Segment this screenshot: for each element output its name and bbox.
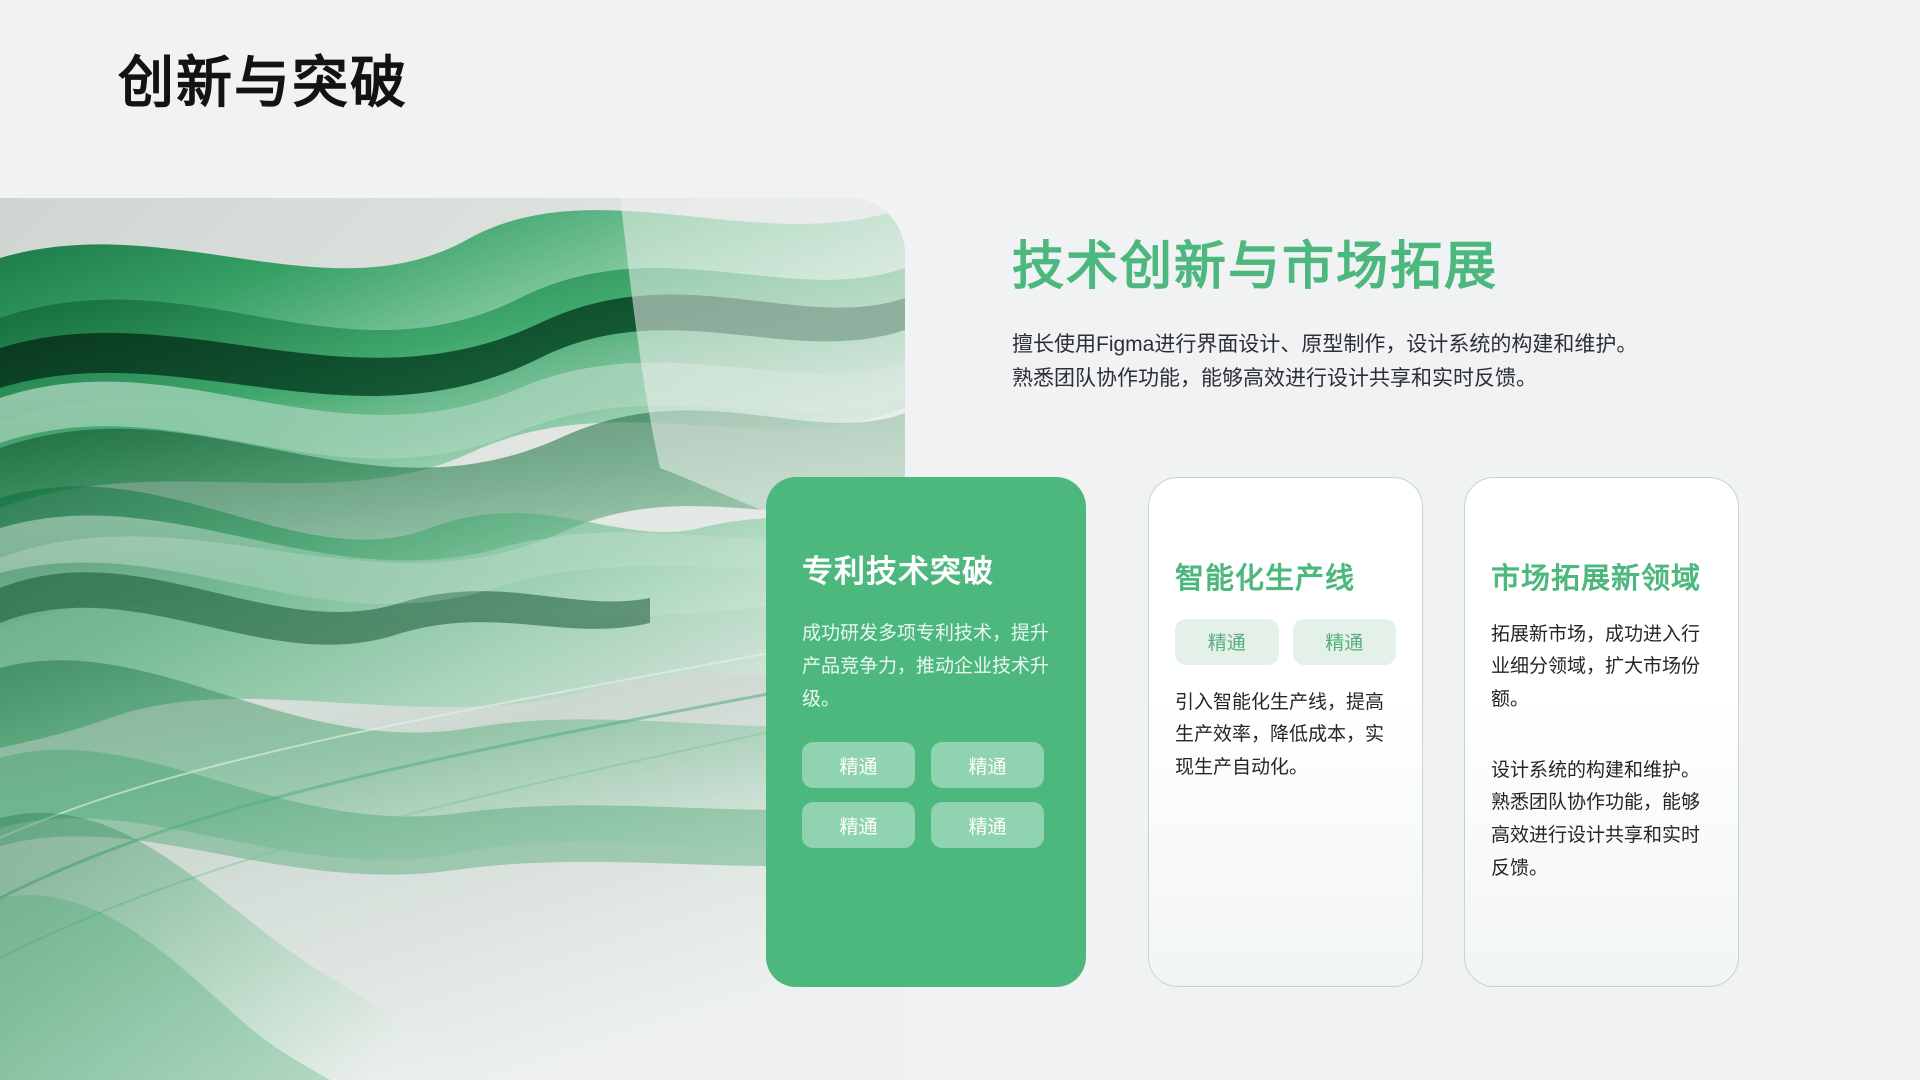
card-body-secondary: 设计系统的构建和维护。熟悉团队协作功能，能够高效进行设计共享和实时反馈。 xyxy=(1491,755,1712,886)
section-heading: 技术创新与市场拓展 xyxy=(1012,238,1802,298)
card-pill-row: 精通 精通 xyxy=(1175,619,1396,665)
section-paragraph: 擅长使用Figma进行界面设计、原型制作，设计系统的构建和维护。 熟悉团队协作功… xyxy=(1012,328,1802,396)
card-body: 拓展新市场，成功进入行业细分领域，扩大市场份额。 xyxy=(1491,619,1712,717)
card-market-expansion[interactable]: 市场拓展新领域 拓展新市场，成功进入行业细分领域，扩大市场份额。 设计系统的构建… xyxy=(1464,477,1739,987)
skill-pill[interactable]: 精通 xyxy=(802,742,915,788)
cards-row: 专利技术突破 成功研发多项专利技术，提升产品竞争力，推动企业技术升级。 精通 精… xyxy=(766,477,1906,997)
card-body: 引入智能化生产线，提高生产效率，降低成本，实现生产自动化。 xyxy=(1175,687,1396,785)
page-title: 创新与突破 xyxy=(118,52,408,114)
card-title: 智能化生产线 xyxy=(1175,562,1396,597)
skill-pill[interactable]: 精通 xyxy=(802,802,915,848)
section-paragraph-line-2: 熟悉团队协作功能，能够高效进行设计共享和实时反馈。 xyxy=(1012,362,1802,396)
card-title: 专利技术突破 xyxy=(802,553,1050,590)
skill-pill[interactable]: 精通 xyxy=(1175,619,1279,665)
skill-pill[interactable]: 精通 xyxy=(931,742,1044,788)
intro-block: 技术创新与市场拓展 擅长使用Figma进行界面设计、原型制作，设计系统的构建和维… xyxy=(1012,238,1802,396)
card-pill-grid: 精通 精通 精通 精通 xyxy=(802,742,1050,848)
card-body: 成功研发多项专利技术，提升产品竞争力，推动企业技术升级。 xyxy=(802,618,1050,716)
skill-pill[interactable]: 精通 xyxy=(1293,619,1397,665)
card-title: 市场拓展新领域 xyxy=(1491,562,1712,597)
card-smart-production-line[interactable]: 智能化生产线 精通 精通 引入智能化生产线，提高生产效率，降低成本，实现生产自动… xyxy=(1148,477,1423,987)
slide-root: 创新与突破 xyxy=(0,0,1920,1080)
skill-pill[interactable]: 精通 xyxy=(931,802,1044,848)
section-paragraph-line-1: 擅长使用Figma进行界面设计、原型制作，设计系统的构建和维护。 xyxy=(1012,328,1802,362)
card-patent-breakthrough[interactable]: 专利技术突破 成功研发多项专利技术，提升产品竞争力，推动企业技术升级。 精通 精… xyxy=(766,477,1086,987)
